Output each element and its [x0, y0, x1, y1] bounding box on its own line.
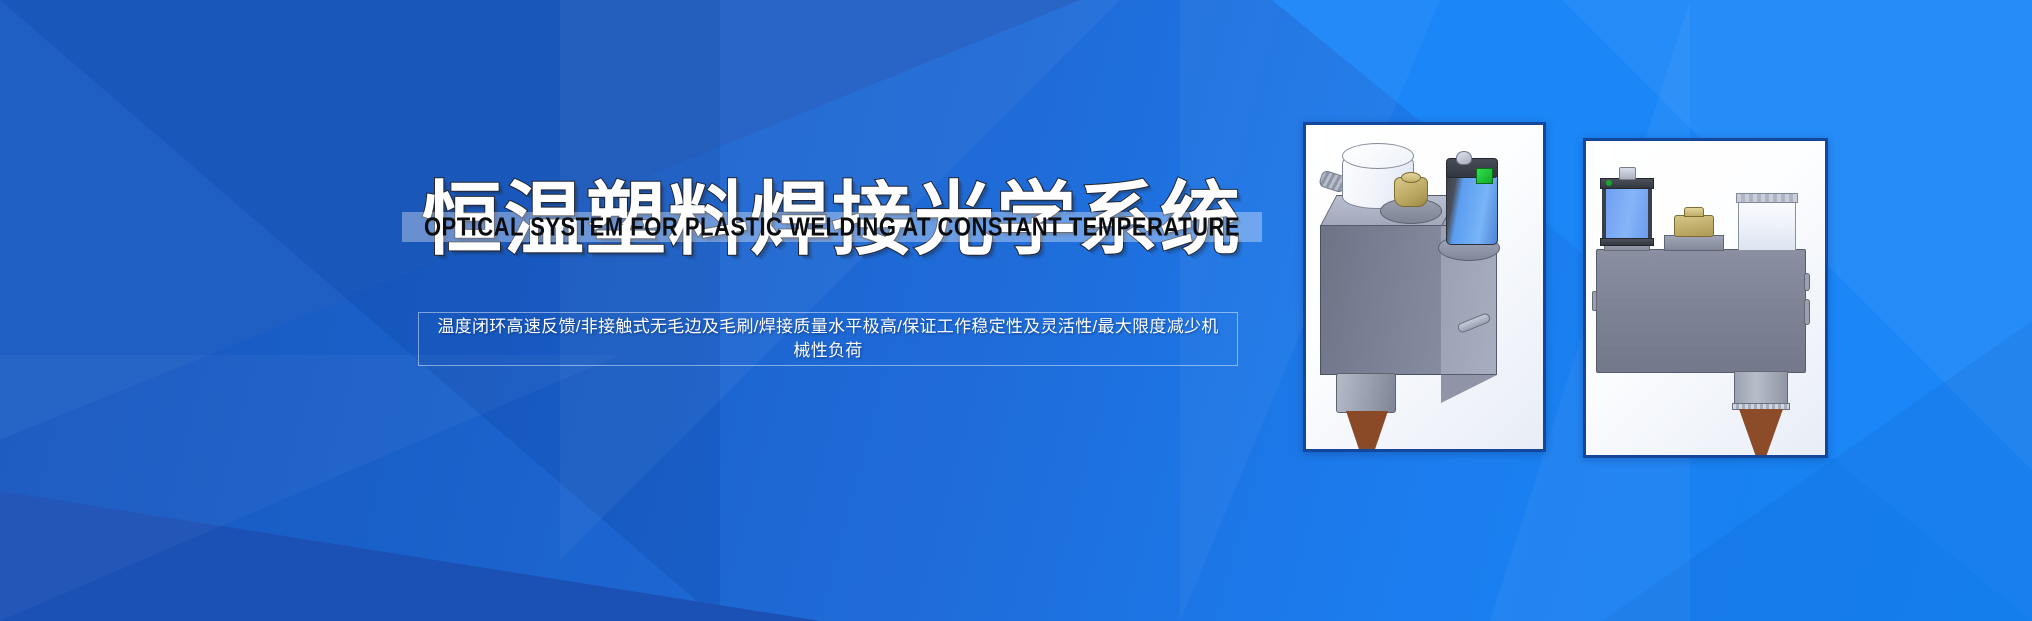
nozzle-barrel-icon — [1734, 371, 1788, 407]
cylinder-lid-icon — [1342, 143, 1414, 169]
sensor-base-icon — [1600, 238, 1654, 246]
white-cylinder-icon — [1738, 199, 1796, 251]
sensor-knob-icon — [1619, 167, 1636, 180]
subtitle-text: 温度闭环高速反馈/非接触式无毛边及毛刷/焊接质量水平极高/保证工作稳定性及灵活性… — [419, 315, 1237, 363]
facet-lower-left-light — [0, 355, 620, 621]
sensor-knob-icon — [1456, 151, 1472, 165]
product-banner: 恒温塑料焊接光学系统 OPTICAL SYSTEM FOR PLASTIC WE… — [0, 0, 2032, 621]
welding-cone-icon — [1346, 411, 1388, 452]
product-image-frame-1 — [1303, 122, 1546, 452]
housing-taper-icon — [1441, 375, 1497, 403]
mount-tab-right-upper-icon — [1804, 273, 1810, 291]
nozzle-barrel-icon — [1336, 373, 1396, 413]
mount-tab-left-icon — [1592, 291, 1597, 311]
title-wrapper: 恒温塑料焊接光学系统 OPTICAL SYSTEM FOR PLASTIC WE… — [408, 168, 1256, 276]
product-image-frame-2 — [1583, 138, 1828, 458]
mount-tab-right-lower-icon — [1804, 299, 1810, 325]
headline-block: 恒温塑料焊接光学系统 OPTICAL SYSTEM FOR PLASTIC WE… — [408, 168, 1256, 276]
facet-center-highlight — [560, 0, 1120, 560]
welding-cone-icon — [1739, 409, 1783, 458]
product-render-front — [1586, 141, 1825, 455]
mount-flange-icon — [1664, 235, 1724, 251]
sensor-green-led-icon — [1476, 168, 1493, 184]
product-render-isometric — [1306, 125, 1543, 449]
subtitle-box: 温度闭环高速反馈/非接触式无毛边及毛刷/焊接质量水平极高/保证工作稳定性及灵活性… — [418, 312, 1238, 366]
page-title-english: OPTICAL SYSTEM FOR PLASTIC WELDING AT CO… — [408, 207, 1256, 247]
brass-hub-icon — [1674, 215, 1714, 237]
housing-front-face-icon — [1596, 249, 1806, 373]
sensor-green-led-icon — [1606, 180, 1612, 186]
housing-front-face-icon — [1320, 225, 1442, 375]
cylinder-lid-icon — [1736, 193, 1798, 203]
blue-sensor-module-icon — [1602, 185, 1652, 241]
brass-hub-cap-icon — [1684, 207, 1704, 217]
brass-hub-cap-icon — [1401, 172, 1421, 183]
